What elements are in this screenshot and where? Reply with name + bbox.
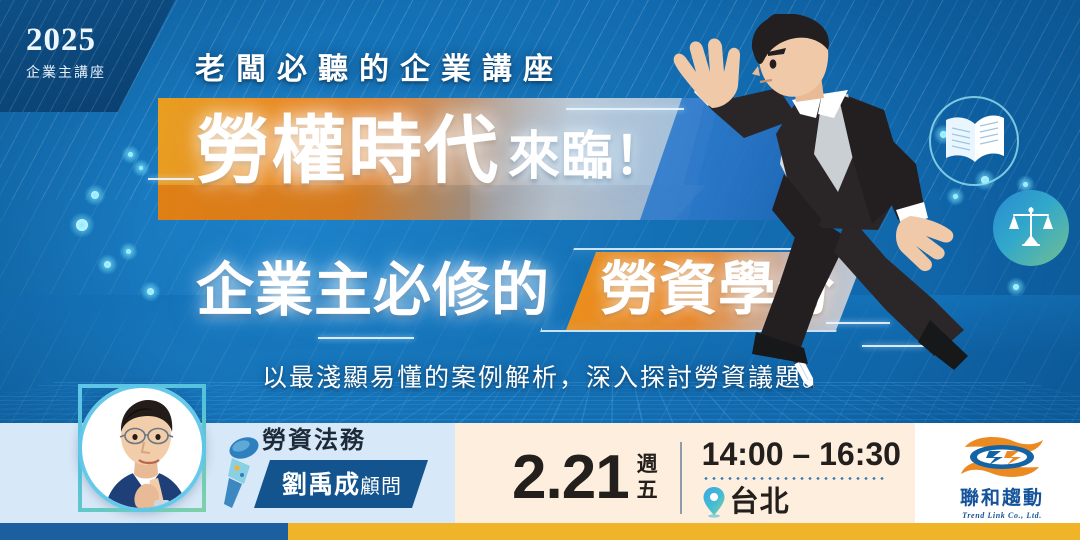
event-datetime: 2.21 週 五 14:00 – 16:30 [512,438,901,518]
glow-dot [147,288,154,295]
event-location: 台北 [730,488,790,517]
glow-dot [128,152,133,157]
event-time-location: 14:00 – 16:30 台北 [702,438,901,518]
glow-dot [76,219,88,231]
headline-line-1: 勞權時代 來臨！ [196,115,667,188]
glow-dot [1023,182,1028,187]
headline-line-1-accent: 來臨！ [508,131,667,188]
headline-line-2-main: 企業主必修的 [196,262,550,320]
open-book-icon [942,108,1008,168]
company-logo: 聯和趨動 Trend Link Co., Ltd. [948,433,1056,520]
event-time: 14:00 – 16:30 [702,438,901,470]
running-businessman-illustration [672,14,972,374]
event-location-row: 台北 [702,486,901,518]
event-weekday-char-1: 週 [637,452,658,478]
balance-scales-icon [1008,204,1054,252]
speaker-title-suffix: 顧問 [360,476,402,498]
speaker-role-text: 勞資法務 [262,420,366,455]
speaker-name: 劉禹成顧問 [282,471,402,499]
speaker-role: 勞資法務 [262,420,438,455]
footer-strip-gold [288,523,1080,540]
headline-line-1-main: 勞權時代 [196,115,500,188]
decor-rule [148,178,194,180]
promo-banner: 2025 企業主講座 老闆必聽的企業講座 勞權時代 來臨！ 企業主必修的 勞資學… [0,0,1080,540]
event-date: 2.21 [512,447,629,509]
decor-rule [566,108,684,110]
company-name-cn: 聯和趨動 [948,483,1056,510]
dotted-divider [702,477,888,480]
glow-dot [91,191,99,199]
glow-dot [1013,284,1019,290]
badge-subtitle-text: 企業主講座 [26,62,106,82]
event-weekday: 週 五 [637,452,658,503]
event-weekday-char-2: 五 [637,478,658,504]
speaker-name-tag: 劉禹成顧問 [254,460,428,508]
event-subtitle: 老闆必聽的企業講座 [195,44,564,88]
location-pin-icon [702,486,726,518]
datetime-divider [680,442,682,514]
speaker-portrait [78,384,206,512]
company-logo-mark [955,433,1049,481]
speaker-info: 勞資法務 劉禹成顧問 [228,420,438,508]
glow-dot [126,249,131,254]
decor-rule [318,337,414,339]
speaker-name-text: 劉禹成 [282,471,360,499]
footer-strip-blue [0,523,288,540]
company-name-en: Trend Link Co., Ltd. [948,511,1056,520]
glow-dot [139,166,143,170]
badge-year-text: 2025 [26,22,96,59]
glow-dot [104,261,111,268]
